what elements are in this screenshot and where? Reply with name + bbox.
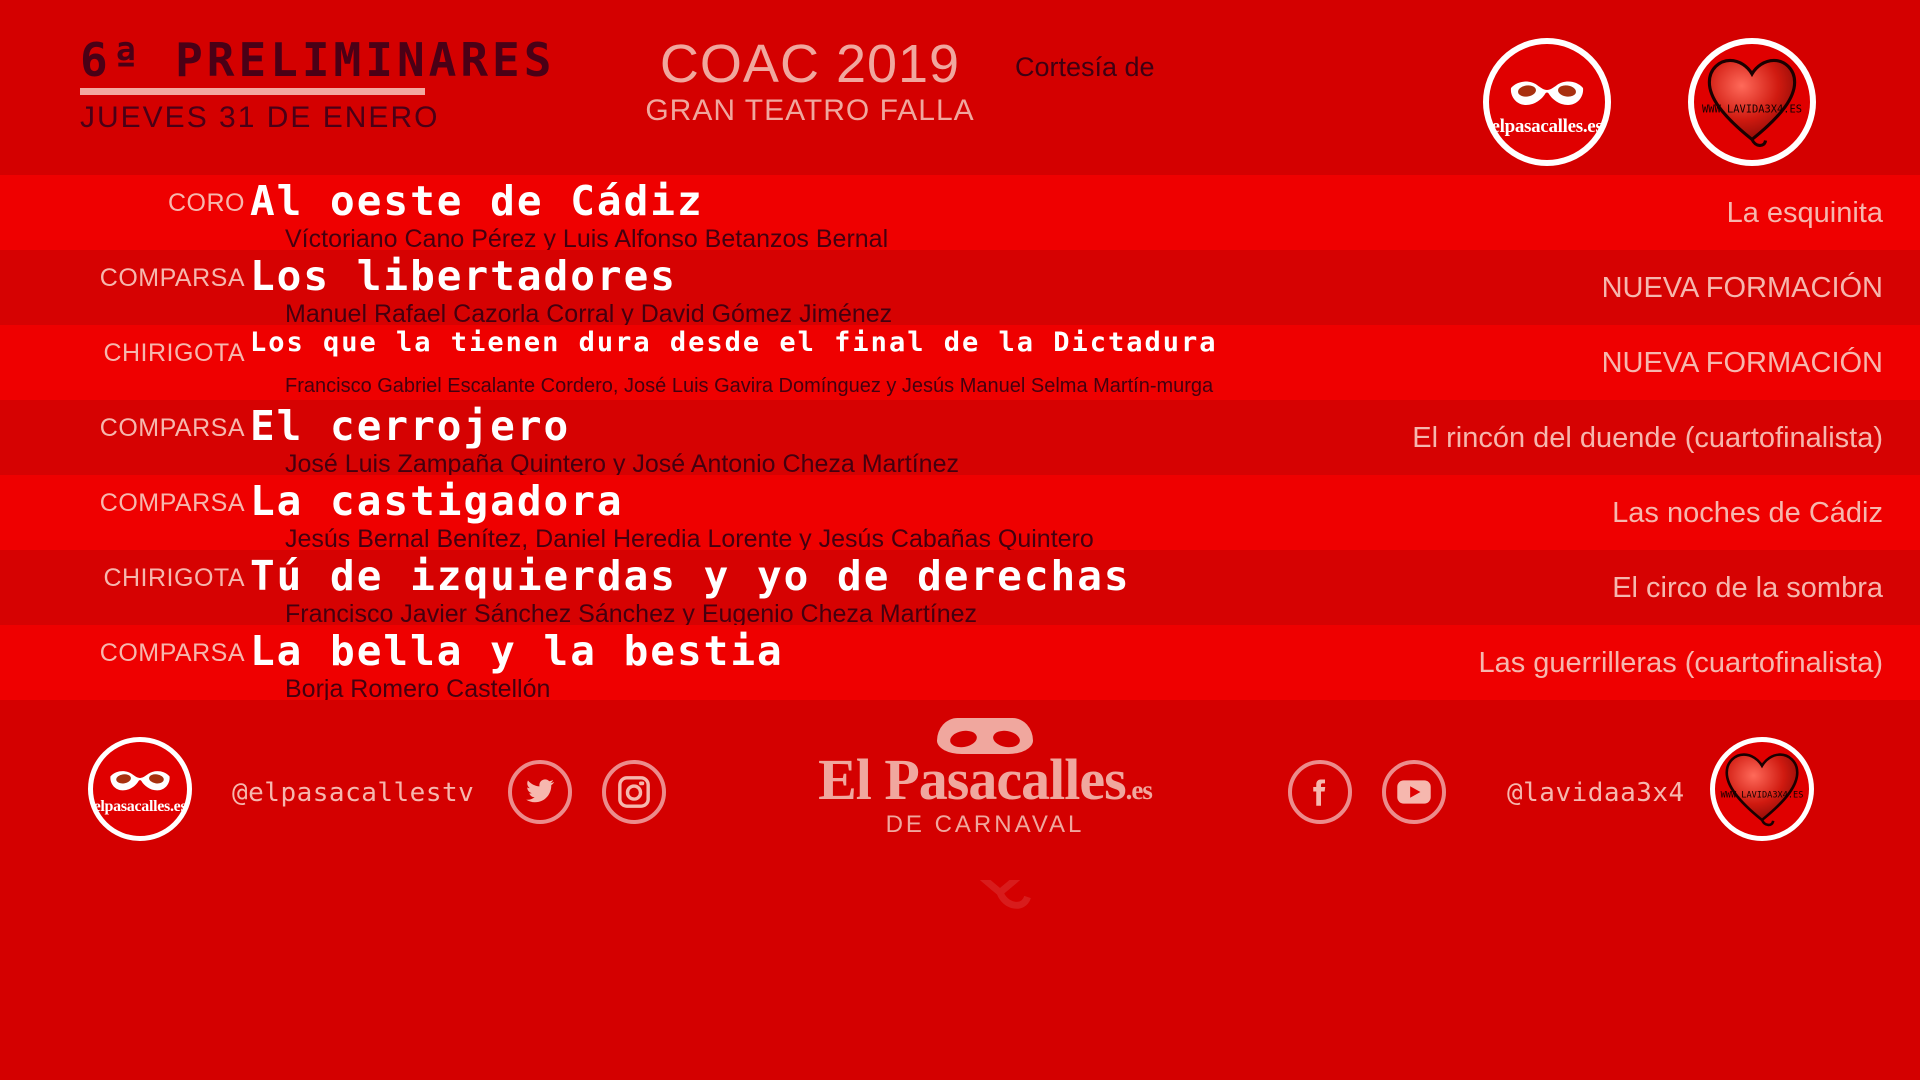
handle-elpasacallestv[interactable]: @elpasacallestv	[232, 778, 474, 808]
carnival-mask-icon	[1508, 78, 1586, 108]
poster-canvas: El Pasacalles.es DE CARNAVAL W.LAVIDA3X4…	[0, 0, 1920, 1080]
row-titulo: Los que la tienen dura desde el final de…	[250, 327, 1218, 358]
carnival-mask-icon	[937, 718, 1033, 754]
row-autores: Francisco Gabriel Escalante Cordero, Jos…	[285, 375, 1213, 398]
row-titulo: Los libertadores	[250, 252, 677, 300]
contest-block: COAC 2019 GRAN TEATRO FALLA	[560, 36, 1060, 129]
row-titulo: El cerrojero	[250, 402, 570, 450]
carnival-mask-icon	[108, 768, 172, 793]
logo-lavida3x4-footer[interactable]: WWW.LAVIDA3X4.ES	[1710, 737, 1814, 841]
youtube-play-glyph	[1396, 778, 1432, 806]
heart-icon: WWW.LAVIDA3X4.ES	[1719, 746, 1805, 832]
row-titulo: Al oeste de Cádiz	[250, 177, 704, 225]
session-underline	[80, 88, 425, 95]
session-date: JUEVES 31 DE ENERO	[80, 101, 555, 135]
twitter-bird-glyph	[523, 776, 557, 806]
footer-brand-tld: .es	[1126, 775, 1152, 805]
row-agrupacion: La esquinita	[1727, 197, 1883, 230]
heart-icon: WWW.LAVIDA3X4.ES	[1700, 50, 1804, 154]
row-agrupacion: Las guerrilleras (cuartofinalista)	[1478, 647, 1883, 680]
session-title: 6ª PRELIMINARES	[80, 36, 555, 84]
row-agrupacion: NUEVA FORMACIÓN	[1602, 272, 1883, 305]
svg-text:WWW.LAVIDA3X4.ES: WWW.LAVIDA3X4.ES	[1702, 103, 1802, 115]
logo-elpasacalles[interactable]: elpasacalles.es	[1483, 38, 1611, 166]
table-row[interactable]: CHIRIGOTA Los que la tienen dura desde e…	[0, 325, 1920, 400]
logo-lavida3x4[interactable]: WWW.LAVIDA3X4.ES	[1688, 38, 1816, 166]
groups-list: CORO Al oeste de Cádiz Víctoriano Cano P…	[0, 175, 1920, 700]
instagram-camera-glyph	[617, 775, 651, 809]
table-row[interactable]: COMPARSA La castigadora Jesús Bernal Ben…	[0, 475, 1920, 550]
row-modalidad: CHIRIGOTA	[0, 564, 245, 593]
logo-elpasacalles-footer[interactable]: elpasacalles.es	[88, 737, 192, 841]
courtesy-label: Cortesía de	[1015, 52, 1155, 83]
youtube-icon[interactable]	[1382, 760, 1446, 824]
twitter-icon[interactable]	[508, 760, 572, 824]
row-modalidad: COMPARSA	[0, 264, 245, 293]
session-block: 6ª PRELIMINARES JUEVES 31 DE ENERO	[80, 36, 555, 135]
row-modalidad: COMPARSA	[0, 639, 245, 668]
table-row[interactable]: COMPARSA El cerrojero José Luis Zampaña …	[0, 400, 1920, 475]
row-agrupacion: El circo de la sombra	[1612, 572, 1883, 605]
row-titulo: La castigadora	[250, 477, 624, 525]
poster-header: 6ª PRELIMINARES JUEVES 31 DE ENERO COAC …	[0, 0, 1920, 175]
poster-footer: elpasacalles.es @elpasacallestv El Pasac…	[0, 700, 1920, 880]
table-row[interactable]: CHIRIGOTA Tú de izquierdas y yo de derec…	[0, 550, 1920, 625]
handle-lavidaa3x4[interactable]: @lavidaa3x4	[1507, 778, 1685, 808]
footer-brand-text: El Pasacalles	[818, 747, 1126, 812]
facebook-icon[interactable]	[1288, 760, 1352, 824]
svg-text:WWW.LAVIDA3X4.ES: WWW.LAVIDA3X4.ES	[1721, 791, 1804, 801]
footer-brand-subtitle: DE CARNAVAL	[760, 811, 1210, 840]
table-row[interactable]: CORO Al oeste de Cádiz Víctoriano Cano P…	[0, 175, 1920, 250]
footer-brand-name: El Pasacalles.es	[760, 750, 1210, 811]
row-titulo: Tú de izquierdas y yo de derechas	[250, 552, 1131, 600]
row-modalidad: COMPARSA	[0, 414, 245, 443]
row-modalidad: CHIRIGOTA	[0, 339, 245, 368]
row-agrupacion: Las noches de Cádiz	[1612, 497, 1883, 530]
table-row[interactable]: COMPARSA La bella y la bestia Borja Rome…	[0, 625, 1920, 700]
row-titulo: La bella y la bestia	[250, 627, 784, 675]
logo-elpasacalles-word: elpasacalles.es	[1489, 116, 1605, 138]
contest-venue: GRAN TEATRO FALLA	[560, 93, 1060, 129]
logo-elpasacalles-word: elpasacalles.es	[93, 798, 187, 816]
instagram-icon[interactable]	[602, 760, 666, 824]
contest-title: COAC 2019	[560, 36, 1060, 93]
row-modalidad: CORO	[0, 189, 245, 218]
facebook-f-glyph	[1305, 775, 1335, 809]
row-modalidad: COMPARSA	[0, 489, 245, 518]
row-agrupacion: NUEVA FORMACIÓN	[1602, 347, 1883, 380]
footer-brand: El Pasacalles.es DE CARNAVAL	[760, 718, 1210, 840]
row-agrupacion: El rincón del duende (cuartofinalista)	[1412, 422, 1883, 455]
table-row[interactable]: COMPARSA Los libertadores Manuel Rafael …	[0, 250, 1920, 325]
